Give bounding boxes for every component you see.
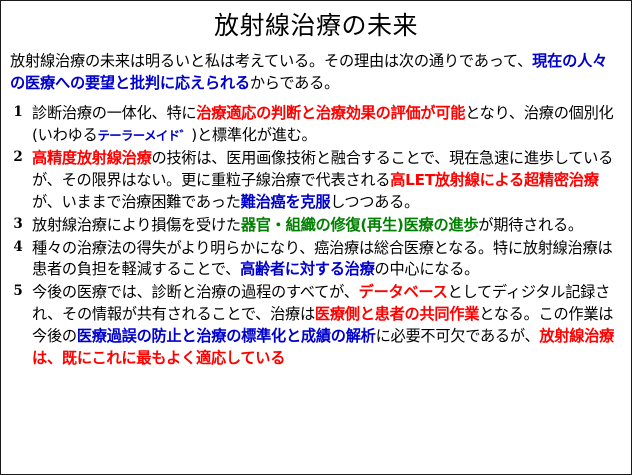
list-item: 高精度放射線治療の技術は、医用画像技術と融合することで、現在急速に進歩しているが… [10, 148, 625, 214]
text-run-black: 放射線治療により損傷を受けた [32, 216, 241, 234]
text-run-black: )と標準化が進む。 [191, 126, 316, 144]
text-run-blue: 医療過誤の防止と治療の標準化と成績の解析 [77, 327, 376, 345]
text-run-red: データベース [359, 283, 448, 301]
text-run-red: 高LET放射線による超精密治療 [390, 171, 598, 189]
text-run-red: 高精度放射線治療 [32, 149, 152, 167]
text-run-black: が、いままで治療困難であった [32, 193, 241, 211]
text-run-red: 医療側と患者の共同作業 [315, 305, 479, 323]
page-title: 放射線治療の未来 [1, 1, 631, 44]
text-run-black: しつつある。 [330, 193, 419, 211]
list-item: 診断治療の一体化、特に治療適応の判断と治療効果の評価が可能となり、治療の個別化(… [10, 103, 625, 147]
text-run-blue: 難治癌を克服 [241, 193, 331, 211]
text-run-green: 器官・組織の修復(再生)医療の進歩 [241, 216, 478, 234]
presentation-slide: 放射線治療の未来 放射線治療の未来は明るいと私は考えている。その理由は次の通りで… [0, 0, 632, 475]
text-run-black: に必要不可欠であるが、 [376, 327, 540, 345]
text-run-blue: 高齢者に対する治療 [240, 260, 374, 278]
text-run-black: 診断治療の一体化、特に [32, 104, 196, 122]
list-item: 今後の医療では、診断と治療の過程のすべてが、データベースとしてディジタル記録され… [10, 282, 625, 370]
list-item: 放射線治療により損傷を受けた器官・組織の修復(再生)医療の進歩が期待される。 [10, 215, 625, 237]
numbered-points-list: 診断治療の一体化、特に治療適応の判断と治療効果の評価が可能となり、治療の個別化(… [1, 103, 631, 370]
text-run-black: 放射線治療の未来は明るいと私は考えている。その理由は次の通りであって、 [10, 52, 532, 70]
list-item: 種々の治療法の得失がより明らかになり、癌治療は総合医療となる。特に放射線治療は患… [10, 238, 625, 282]
intro-paragraph: 放射線治療の未来は明るいと私は考えている。その理由は次の通りであって、現在の人々… [1, 51, 631, 94]
text-run-red: 治療適応の判断と治療効果の評価が可能 [196, 104, 465, 122]
text-run-black: からである。 [250, 74, 339, 92]
text-run-black: の中心になる。 [375, 260, 480, 278]
text-run-blue-narrow: テーラーメイド゛ [97, 128, 191, 143]
text-run-black: が期待される。 [478, 216, 583, 234]
text-run-black: 今後の医療では、診断と治療の過程のすべてが、 [32, 283, 359, 301]
